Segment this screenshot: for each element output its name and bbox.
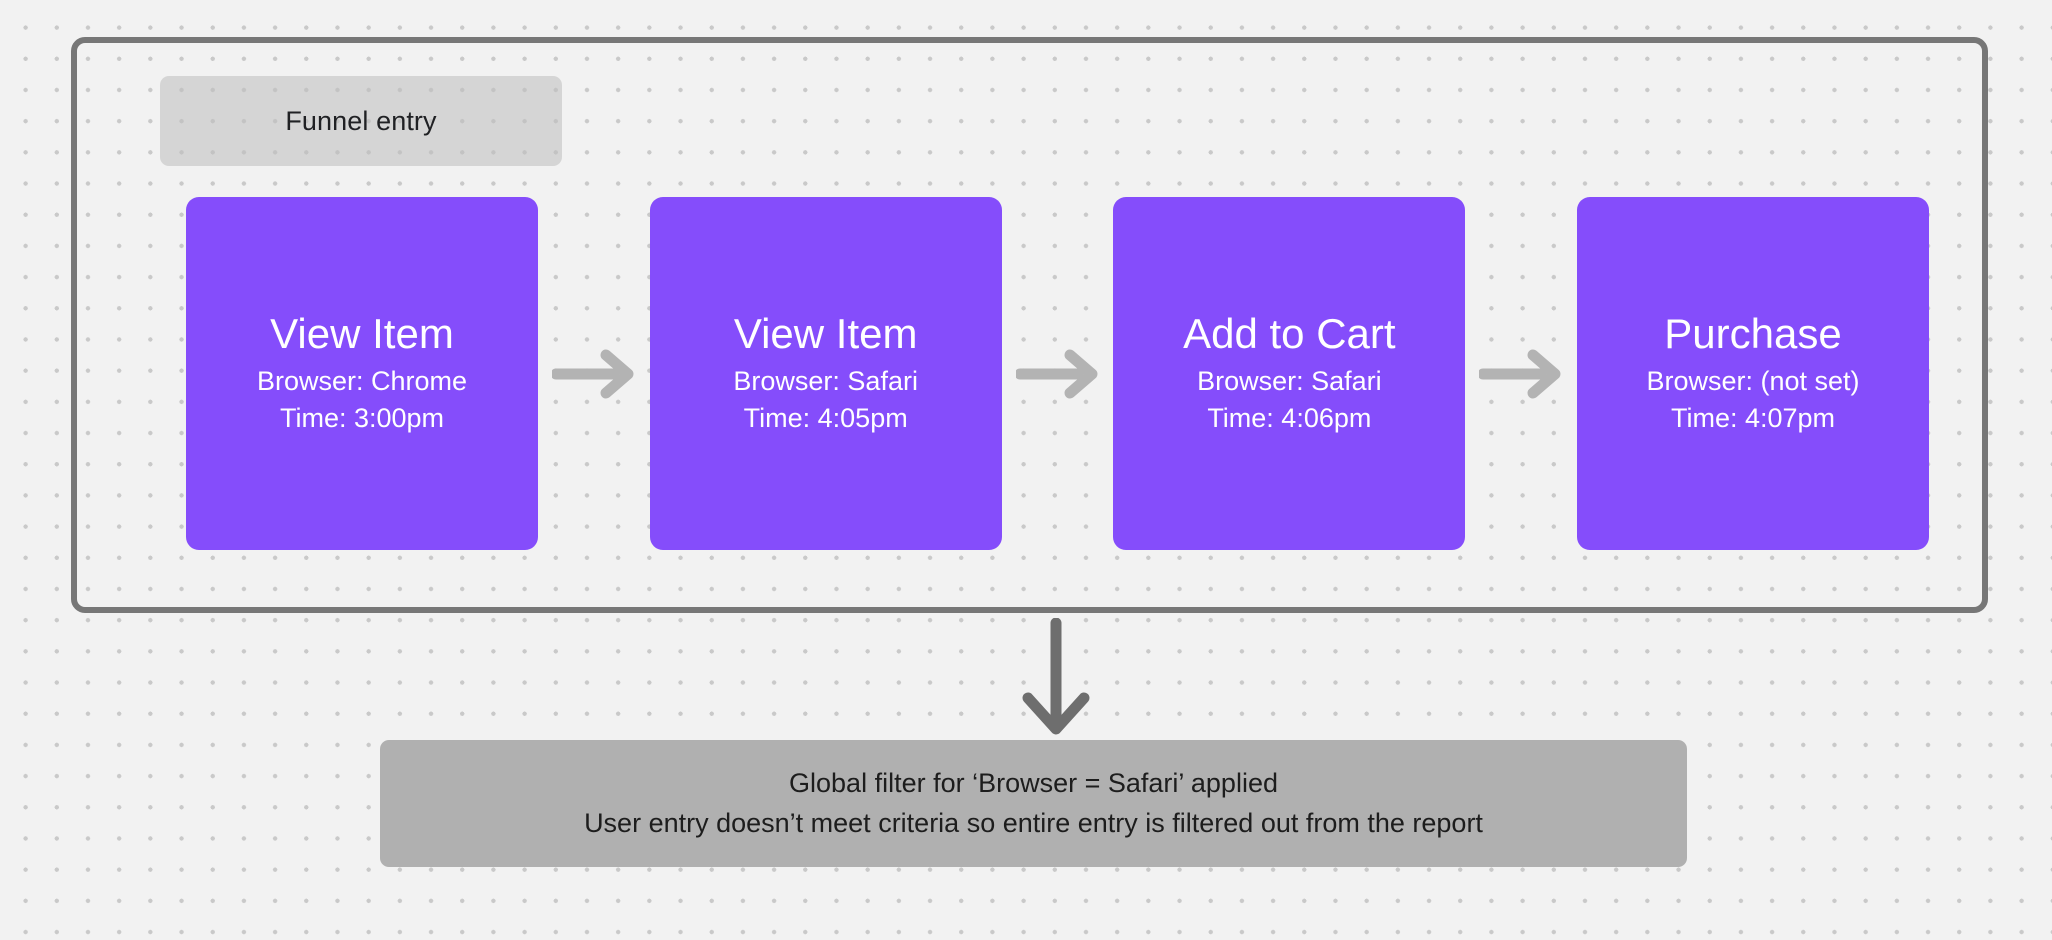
step-browser: Browser: Safari (1197, 363, 1382, 400)
funnel-step-card[interactable]: View Item Browser: Chrome Time: 3:00pm (186, 197, 538, 550)
step-browser: Browser: (not set) (1646, 363, 1859, 400)
global-filter-note: Global filter for ‘Browser = Safari’ app… (380, 740, 1687, 867)
filter-note-line-2: User entry doesn’t meet criteria so enti… (584, 804, 1483, 843)
step-time: Time: 3:00pm (280, 400, 444, 437)
step-connector-arrow-right-icon (1002, 344, 1114, 404)
funnel-step-card[interactable]: Add to Cart Browser: Safari Time: 4:06pm (1113, 197, 1465, 550)
step-title: View Item (270, 310, 454, 357)
funnel-steps-row: View Item Browser: Chrome Time: 3:00pm V… (186, 197, 1929, 550)
step-connector-arrow-right-icon (1465, 344, 1577, 404)
funnel-entry-label: Funnel entry (285, 106, 436, 137)
step-time: Time: 4:07pm (1671, 400, 1835, 437)
step-time: Time: 4:05pm (744, 400, 908, 437)
step-browser: Browser: Chrome (257, 363, 467, 400)
funnel-step-card[interactable]: Purchase Browser: (not set) Time: 4:07pm (1577, 197, 1929, 550)
step-connector-arrow-right-icon (538, 344, 650, 404)
step-browser: Browser: Safari (733, 363, 918, 400)
flow-arrow-down-icon (1001, 618, 1111, 736)
step-title: View Item (734, 310, 918, 357)
step-time: Time: 4:06pm (1207, 400, 1371, 437)
funnel-step-card[interactable]: View Item Browser: Safari Time: 4:05pm (650, 197, 1002, 550)
funnel-entry-tag: Funnel entry (160, 76, 562, 166)
step-title: Add to Cart (1183, 310, 1395, 357)
step-title: Purchase (1664, 310, 1841, 357)
filter-note-line-1: Global filter for ‘Browser = Safari’ app… (789, 764, 1278, 803)
